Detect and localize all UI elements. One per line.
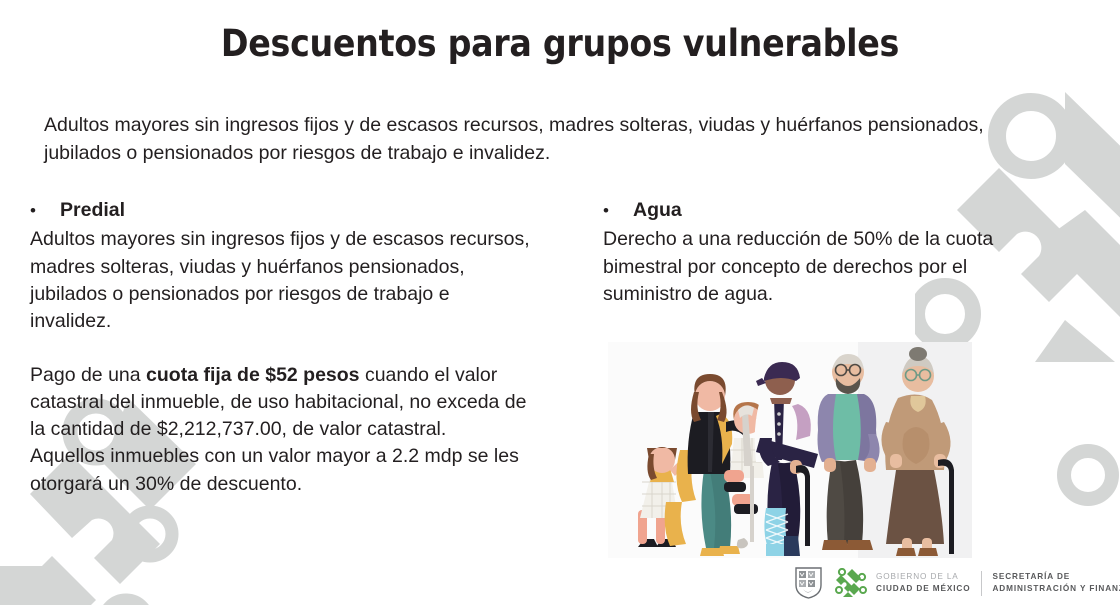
paragraph-spacer — [30, 336, 535, 362]
government-wordmark: GOBIERNO DE LA CIUDAD DE MÉXICO — [876, 571, 970, 594]
bullet-item-predial: • Predial — [30, 198, 535, 223]
escudo-ciudad-de-mexico-icon — [795, 567, 822, 599]
bullet-dot-icon: • — [30, 201, 48, 221]
footer-logo-bar: GOBIERNO DE LA CIUDAD DE MÉXICO SECRETAR… — [795, 566, 1120, 600]
intro-paragraph: Adultos mayores sin ingresos fijos y de … — [44, 112, 1024, 167]
secretariat-wordmark: SECRETARÍA DE ADMINISTRACIÓN Y FINANZAS — [992, 571, 1120, 594]
right-column: • Agua Derecho a una reducción de 50% de… — [603, 198, 1023, 308]
cdmx-logo-icon — [833, 568, 867, 598]
secretariat-line-2: ADMINISTRACIÓN Y FINANZAS — [992, 583, 1120, 595]
predial-fixed-fee-emphasis: cuota fija de $52 pesos — [146, 364, 360, 386]
agua-paragraph-1: Derecho a una reducción de 50% de la cuo… — [603, 226, 1023, 308]
cdmx-watermark-right-ring — [1050, 440, 1120, 510]
section-heading-agua: Agua — [621, 198, 682, 223]
presentation-slide: Descuentos para grupos vulnerables Adult… — [0, 0, 1120, 605]
predial-paragraph-3: Aquellos inmuebles con un valor mayor a … — [30, 443, 535, 498]
vulnerable-groups-illustration — [608, 342, 972, 558]
section-heading-predial: Predial — [48, 198, 125, 223]
secretariat-line-1: SECRETARÍA DE — [992, 571, 1120, 583]
page-title: Descuentos para grupos vulnerables — [0, 22, 1120, 65]
predial-paragraph-2-lead: Pago de una — [30, 364, 146, 386]
predial-paragraph-2: Pago de una cuota fija de $52 pesos cuan… — [30, 362, 535, 444]
footer-divider — [981, 571, 982, 596]
bullet-item-agua: • Agua — [603, 198, 1023, 223]
predial-paragraph-1: Adultos mayores sin ingresos fijos y de … — [30, 226, 535, 335]
government-line-2: CIUDAD DE MÉXICO — [876, 583, 970, 595]
bullet-dot-icon: • — [603, 201, 621, 221]
government-line-1: GOBIERNO DE LA — [876, 571, 970, 583]
left-column: • Predial Adultos mayores sin ingresos f… — [30, 198, 535, 498]
cdmx-watermark-bottom-block — [0, 560, 120, 605]
